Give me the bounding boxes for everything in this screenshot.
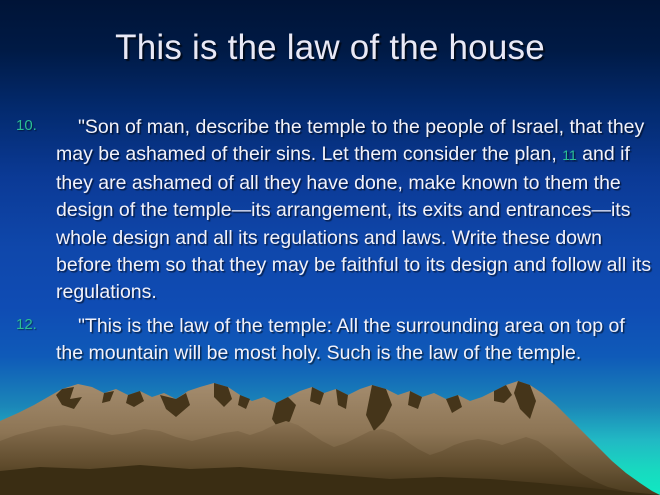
mountain-range-graphic — [0, 375, 660, 495]
list-item: 10. "Son of man, describe the temple to … — [12, 114, 652, 307]
list-item: 12. "This is the law of the temple: All … — [12, 313, 652, 368]
verse-text-before: "This is the law of the temple: All the … — [56, 315, 625, 364]
verse-list: 10. "Son of man, describe the temple to … — [12, 114, 652, 374]
verse-text-after: and if they are ashamed of all they have… — [56, 143, 651, 303]
inline-verse-number: 11 — [562, 147, 577, 163]
verse-number: 12. — [16, 316, 50, 334]
verse-text-before: "Son of man, describe the temple to the … — [56, 116, 644, 165]
verse-text: "Son of man, describe the temple to the … — [56, 114, 652, 307]
page-title: This is the law of the house — [0, 26, 660, 70]
slide: This is the law of the house 10. "Son of… — [0, 0, 660, 495]
verse-text: "This is the law of the temple: All the … — [56, 313, 652, 368]
verse-number: 10. — [16, 117, 50, 135]
